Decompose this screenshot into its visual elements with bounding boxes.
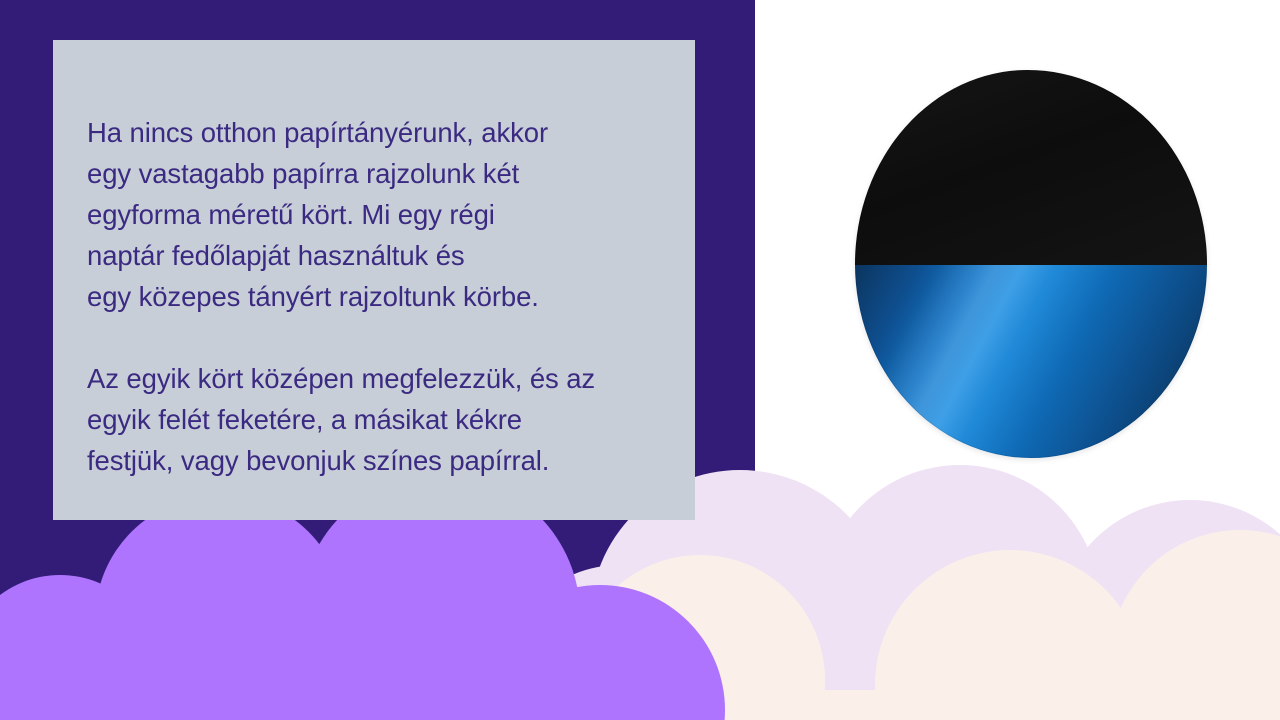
plate-edge-shadow (855, 70, 1207, 458)
slide-canvas: Ha nincs otthon papírtányérunk, akkor eg… (0, 0, 1280, 720)
text-card: Ha nincs otthon papírtányérunk, akkor eg… (53, 40, 695, 520)
card-paragraph-2: Az egyik kört középen megfelezzük, és az… (87, 358, 655, 481)
plate-photo (855, 70, 1207, 458)
card-paragraph-1: Ha nincs otthon papírtányérunk, akkor eg… (87, 112, 655, 317)
